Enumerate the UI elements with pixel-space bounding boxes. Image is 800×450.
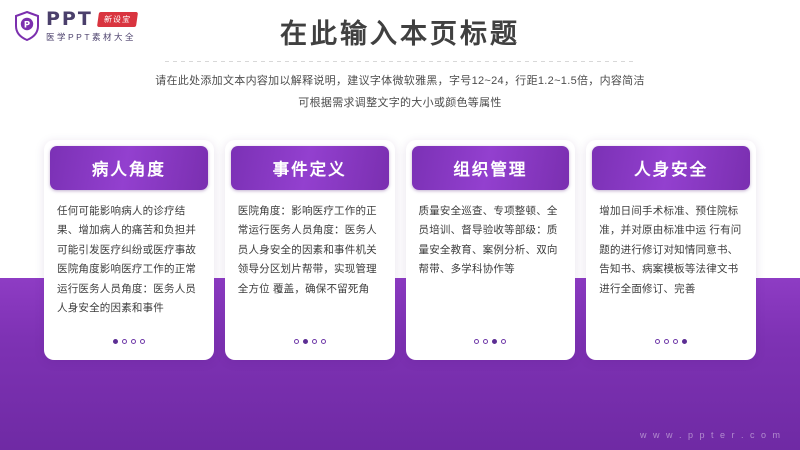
card-2-body: 医院角度：影响医疗工作的正常运行医务人员角度：医务人员人身安全的因素和事件机关领… [225,190,395,328]
card-2-header: 事件定义 [231,146,389,190]
card-2-dot-2[interactable] [303,339,308,344]
brand-logo-row: PPT 新设宝 [46,8,137,30]
card-1-dot-2[interactable] [122,339,127,344]
card-1-header: 病人角度 [50,146,208,190]
card-4-dot-3[interactable] [673,339,678,344]
card-1-title: 病人角度 [92,156,166,180]
card-2[interactable]: 事件定义 医院角度：影响医疗工作的正常运行医务人员角度：医务人员人身安全的因素和… [225,140,395,360]
card-3-body: 质量安全巡查、专项整顿、全员培训、督导验收等部级：质量安全教育、案例分析、双向帮… [406,190,576,328]
subtitle-line-1: 请在此处添加文本内容加以解释说明，建议字体微软雅黑，字号12~24，行距1.2~… [0,71,800,92]
shield-icon: P [14,11,40,41]
card-4-dot-1[interactable] [655,339,660,344]
brand-name: PPT [46,8,93,30]
card-3[interactable]: 组织管理 质量安全巡查、专项整顿、全员培训、督导验收等部级：质量安全教育、案例分… [406,140,576,360]
card-1[interactable]: 病人角度 任何可能影响病人的诊疗结果、增加病人的痛苦和负担并可能引发医疗纠纷或医… [44,140,214,360]
cards-row: 病人角度 任何可能影响病人的诊疗结果、增加病人的痛苦和负担并可能引发医疗纠纷或医… [44,140,756,360]
card-4-dots[interactable] [586,328,756,354]
card-1-dots[interactable] [44,328,214,354]
card-2-dots[interactable] [225,328,395,354]
card-2-dot-3[interactable] [312,339,317,344]
watermark-text: w w w . p p t e r . c o m [640,430,782,440]
card-3-dot-1[interactable] [474,339,479,344]
brand-logo-text: PPT 新设宝 医学PPT素材大全 [46,8,137,43]
card-4-body: 增加日间手术标准、预住院标准，并对原由标准中运 行有问题的进行修订对知情同意书、… [586,190,756,328]
brand-logo: P PPT 新设宝 医学PPT素材大全 [14,8,137,43]
subtitle-line-2: 可根据需求调整文字的大小或颜色等属性 [0,93,800,114]
card-4[interactable]: 人身安全 增加日间手术标准、预住院标准，并对原由标准中运 行有问题的进行修订对知… [586,140,756,360]
card-4-header: 人身安全 [592,146,750,190]
card-3-title: 组织管理 [453,156,527,180]
svg-text:P: P [24,20,30,30]
card-4-dot-4[interactable] [682,339,687,344]
title-divider [165,61,635,62]
brand-badge: 新设宝 [97,12,138,27]
card-3-dot-2[interactable] [483,339,488,344]
card-3-dot-3[interactable] [492,339,497,344]
card-3-dots[interactable] [406,328,576,354]
card-1-dot-3[interactable] [131,339,136,344]
card-2-dot-4[interactable] [321,339,326,344]
card-2-title: 事件定义 [273,156,347,180]
card-4-dot-2[interactable] [664,339,669,344]
card-1-dot-4[interactable] [140,339,145,344]
card-4-title: 人身安全 [634,156,708,180]
card-3-header: 组织管理 [412,146,570,190]
card-3-dot-4[interactable] [501,339,506,344]
card-1-body: 任何可能影响病人的诊疗结果、增加病人的痛苦和负担并可能引发医疗纠纷或医疗事故医院… [44,190,214,328]
card-1-dot-1[interactable] [113,339,118,344]
card-2-dot-1[interactable] [294,339,299,344]
brand-tagline: 医学PPT素材大全 [46,31,137,43]
page-subtitle: 请在此处添加文本内容加以解释说明，建议字体微软雅黑，字号12~24，行距1.2~… [0,71,800,114]
